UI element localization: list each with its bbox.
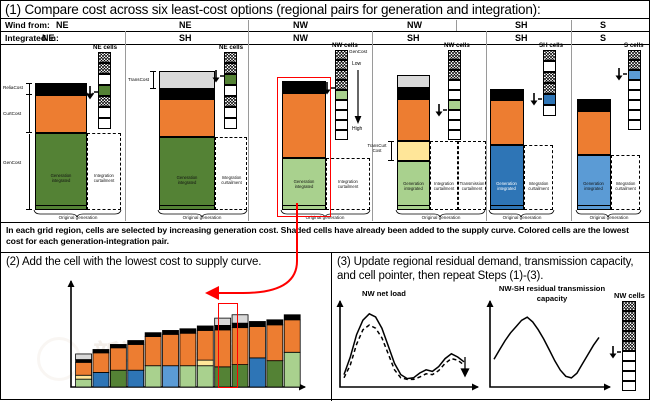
nw-net-load-title: NW net load	[362, 289, 406, 298]
integration-curtailment-box	[524, 145, 553, 210]
curt-cost-label: CurtCost	[3, 111, 21, 116]
cell-1[interactable]	[335, 50, 348, 60]
cell-2[interactable]	[543, 61, 556, 72]
figure-title: (1) Compare cost across six least-cost o…	[5, 2, 541, 17]
wind-from-label: Wind from:	[5, 20, 50, 30]
relia-tick-top	[26, 83, 32, 84]
cell-5[interactable]	[628, 90, 641, 100]
supply-bar-7-reliacost	[180, 329, 196, 333]
cell-2[interactable]	[622, 311, 636, 321]
windrow-sep-2	[571, 20, 572, 31]
supply-bar-5-curtcost	[145, 337, 161, 366]
relia-cost-label: ReliaCost	[3, 85, 23, 90]
cell-1[interactable]	[448, 50, 461, 60]
cell-6[interactable]	[543, 105, 556, 116]
supply-bar-11-curtcost	[249, 327, 265, 358]
panel-2-integrated-in: SH	[179, 33, 192, 43]
cell-7[interactable]	[628, 110, 641, 120]
original-gen-line	[577, 205, 611, 206]
selection-flow-arrow	[151, 201, 341, 311]
cell-3[interactable]	[543, 72, 556, 83]
supply-bar-1-reliacost	[76, 360, 92, 363]
supply-bar-13-gencost	[284, 352, 300, 387]
cell-8[interactable]	[628, 120, 641, 130]
panel-nw-nw: Generation integrated Integration curtai…	[248, 45, 372, 221]
supply-bar-13-reliacost	[284, 315, 300, 320]
curt-tick-bot	[26, 132, 32, 133]
supply-bar-3-gencost	[110, 370, 126, 387]
panel-4-integrated-in: SH	[407, 33, 420, 43]
original-gen-line	[490, 205, 524, 206]
original-gen-line	[397, 205, 430, 206]
integration-curtailment-label: Integration curtailment	[89, 173, 119, 183]
generation-integrated-label: Generation integrated	[579, 181, 608, 191]
supply-bar-6-curtcost	[163, 334, 179, 365]
integration-curtailment-label: Integration curtailment	[525, 181, 552, 191]
supply-bar-8-reliacost	[197, 326, 213, 330]
supply-bar-1-transcost	[76, 354, 92, 360]
cell-1[interactable]	[622, 301, 636, 311]
supply-bar-7-curtcost	[180, 333, 196, 365]
bar-segment-gencost	[35, 133, 87, 210]
trans-cost-label: TransCost	[128, 77, 149, 82]
supply-bar-12-gencost	[267, 361, 283, 387]
transcurt-tick-top	[388, 141, 394, 142]
windrow-sep-0	[248, 20, 249, 31]
supply-bar-8-transcurtcost	[197, 360, 213, 366]
panel-2-pointer-arrow-icon	[211, 69, 225, 85]
supply-curve-new-bar-highlight	[218, 303, 238, 388]
cell-4[interactable]	[224, 85, 237, 96]
panel-6-wind-from: S	[600, 20, 606, 30]
original-generation-label: Original generation	[31, 215, 125, 220]
cell-7[interactable]	[98, 118, 111, 129]
supply-bar-6-gencost	[163, 366, 179, 387]
panel-1-cells-title: NE cells	[93, 44, 117, 51]
cell-9[interactable]	[448, 130, 461, 140]
row1-divider	[1, 31, 650, 32]
cell-4[interactable]	[98, 85, 111, 96]
step3-cells-title: NW cells	[614, 291, 645, 300]
cell-3[interactable]	[622, 321, 636, 331]
gen-tick-bot	[26, 209, 32, 210]
bar-segment-curtcost	[397, 99, 430, 141]
cell-9[interactable]	[622, 381, 636, 391]
panel-3-pointer-arrow-icon	[322, 81, 336, 97]
cell-8[interactable]	[448, 120, 461, 130]
cell-5[interactable]	[622, 341, 636, 351]
supply-bar-1-transcurtcost	[76, 375, 92, 379]
gencost-gradient-arrow-icon	[353, 70, 365, 126]
generation-integrated-label: Generation integrated	[492, 181, 521, 191]
supply-bar-2-gencost	[93, 372, 109, 387]
supply-bar-7-gencost	[180, 366, 196, 387]
step3-section: (3) Update regional residual demand, tra…	[332, 253, 650, 401]
cell-6[interactable]	[448, 100, 461, 110]
supply-bar-4-gencost	[128, 370, 144, 387]
cell-7[interactable]	[448, 110, 461, 120]
panel-3-cells-title: NW cells	[332, 42, 358, 49]
cell-6[interactable]	[224, 107, 237, 118]
supply-bar-13-curtcost	[284, 320, 300, 352]
panel-6-cells-column[interactable]	[628, 50, 641, 130]
cell-8[interactable]	[335, 120, 348, 130]
original-generation-label: Original generation	[488, 215, 556, 220]
supply-bar-2-reliacost	[93, 349, 109, 352]
integration-curtailment-label: Integration curtailment	[612, 181, 639, 191]
cell-6[interactable]	[622, 351, 636, 361]
panel-1-pointer-arrow-icon	[85, 85, 99, 101]
panel-3-cells-column[interactable]	[335, 50, 348, 140]
bar-segment-curtcost	[577, 111, 611, 155]
cell-3[interactable]	[224, 74, 237, 85]
bar-segment-gencost	[159, 137, 215, 210]
cell-5[interactable]	[448, 90, 461, 100]
cell-8[interactable]	[622, 371, 636, 381]
integration-curtailment-box	[430, 141, 458, 210]
bar-segment-gencost	[490, 145, 524, 210]
cell-5[interactable]	[543, 94, 556, 105]
panel-6-integrated-in: S	[600, 33, 606, 43]
cell-3[interactable]	[98, 74, 111, 85]
generation-integrated-label: Generation integrated	[41, 173, 81, 183]
integration-curtailment-label: Integration curtailment	[330, 179, 366, 189]
cell-2[interactable]	[98, 63, 111, 74]
cell-2[interactable]	[335, 60, 348, 70]
transcurt-cost-label: TransCurt Cost	[364, 143, 390, 153]
title-divider	[1, 18, 650, 19]
supply-bar-12-reliacost	[267, 320, 283, 325]
integration-curtailment-box	[215, 137, 247, 210]
panel-5-pointer-arrow-icon	[529, 92, 543, 108]
cell-2[interactable]	[448, 60, 461, 70]
cell-7[interactable]	[335, 110, 348, 120]
panel-5-cells-column[interactable]	[543, 50, 556, 116]
selected-option-highlight	[277, 77, 331, 217]
transcurt-tick-bot	[388, 160, 394, 161]
panel-3-integrated-in: NW	[293, 33, 308, 43]
supply-bar-6-reliacost	[163, 330, 179, 334]
bar-segment-reliacost	[490, 89, 524, 100]
cell-3[interactable]	[628, 70, 641, 80]
supply-bar-2-curtcost	[93, 353, 109, 373]
bar-segment-transcurtcost	[397, 141, 430, 161]
cell-2[interactable]	[224, 63, 237, 74]
cell-5[interactable]	[335, 90, 348, 100]
cell-4[interactable]	[335, 80, 348, 90]
gencost-low-label: Low	[352, 61, 361, 67]
curt-tick	[29, 95, 30, 133]
supply-bar-8-curtcost	[197, 330, 213, 360]
panel-4-pointer-arrow-icon	[434, 103, 448, 119]
bar-segment-curtcost	[159, 99, 215, 137]
integration-curtailment-label: Integration curtailment	[217, 175, 246, 185]
supply-bar-1-gencost	[76, 379, 92, 387]
panel-3-wind-from: NW	[293, 20, 308, 30]
nw-net-load-chart	[334, 299, 482, 399]
step3-cells-column[interactable]	[622, 301, 636, 391]
panel-1-cells-column[interactable]	[98, 52, 111, 129]
bar-segment-transcost	[159, 71, 215, 89]
cell-6[interactable]	[628, 100, 641, 110]
step3-heading: (3) Update regional residual demand, tra…	[337, 256, 645, 283]
trans-tick-bot	[150, 88, 156, 89]
panel-4-cells-column[interactable]	[448, 50, 461, 140]
panel-2-cells-column[interactable]	[224, 52, 237, 129]
original-gen-line	[35, 205, 87, 206]
panel-nw-sh: TransCurt Cost Generation integrated Int…	[372, 45, 486, 221]
generation-integrated-label: Generation integrated	[167, 175, 207, 185]
cell-5[interactable]	[98, 96, 111, 107]
gencost-legend-title: GenCost	[349, 49, 367, 54]
bar-segment-reliacost	[35, 83, 87, 95]
gencost-high-label: High	[352, 126, 362, 132]
supply-bar-3-reliacost	[110, 344, 126, 347]
cell-1[interactable]	[628, 50, 641, 60]
panel-4-wind-from: NW	[407, 20, 422, 30]
cell-3[interactable]	[448, 70, 461, 80]
cell-4[interactable]	[628, 80, 641, 90]
cell-1[interactable]	[224, 52, 237, 63]
bar-segment-reliacost	[577, 99, 611, 111]
supply-bar-8-gencost	[197, 366, 213, 387]
cell-4[interactable]	[448, 80, 461, 90]
transcurt-tick	[391, 141, 392, 161]
panel-1-wind-from: NE	[56, 20, 69, 30]
panel-6-pointer-arrow-icon	[614, 67, 628, 83]
panel-ne-ne: ReliaCost CurtCost GenCost Generation in…	[1, 45, 125, 221]
transmission-curtailment-box	[458, 141, 486, 210]
cell-4[interactable]	[622, 331, 636, 341]
cell-1[interactable]	[543, 50, 556, 61]
figure-root: (1) Compare cost across six least-cost o…	[0, 0, 650, 400]
supply-bar-3-curtcost	[110, 348, 126, 370]
cell-4[interactable]	[543, 83, 556, 94]
nw-sh-capacity-chart	[484, 299, 614, 399]
cell-2[interactable]	[628, 60, 641, 70]
supply-bar-5-gencost	[145, 366, 161, 387]
supply-bar-5-reliacost	[145, 333, 161, 337]
panel-2-cells-title: NE cells	[219, 44, 243, 51]
trans-tick	[153, 71, 154, 89]
cell-7[interactable]	[224, 118, 237, 129]
panel-5-cells-title: SH cells	[539, 42, 563, 49]
cell-6[interactable]	[335, 100, 348, 110]
gen-cost-label: GenCost	[3, 160, 21, 165]
original-generation-label: Original generation	[575, 215, 643, 220]
transmission-curtailment-label: Transmission curtailment	[459, 181, 485, 191]
bar-segment-reliacost	[159, 89, 215, 99]
panel-sh-sh: Generation integrated Integration curtai…	[486, 45, 571, 221]
gen-tick	[29, 134, 30, 210]
supply-bar-11-reliacost	[249, 321, 265, 326]
bar-segment-curtcost	[490, 100, 524, 145]
panel-6-cells-title: S cells	[624, 42, 644, 49]
generation-integrated-label: Generation integrated	[399, 181, 428, 191]
windrow-sep-1	[456, 20, 457, 31]
supply-bar-1-curtcost	[76, 362, 92, 375]
bar-segment-transcost	[397, 75, 430, 88]
panel-2-wind-from: NE	[179, 20, 192, 30]
panel-5-integrated-in: SH	[515, 33, 528, 43]
integration-curtailment-box	[87, 133, 121, 210]
step3-pointer-arrow-icon	[608, 345, 622, 361]
panel-ne-sh: TransCost Generation integrated Integrat…	[125, 45, 248, 221]
cell-5[interactable]	[224, 96, 237, 107]
supply-bar-4-reliacost	[128, 341, 144, 345]
supply-bar-12-curtcost	[267, 325, 283, 361]
cell-7[interactable]	[622, 361, 636, 371]
cell-1[interactable]	[98, 52, 111, 63]
panel-5-wind-from: SH	[515, 20, 528, 30]
trans-tick-top	[150, 71, 156, 72]
cell-3[interactable]	[335, 70, 348, 80]
supply-bar-4-curtcost	[128, 344, 144, 370]
integration-curtailment-label: Integration curtailment	[431, 181, 457, 191]
panel-s-s: Generation integrated Integration curtai…	[571, 45, 650, 221]
cell-6[interactable]	[98, 107, 111, 118]
panel-4-cells-title: NW cells	[444, 42, 470, 49]
panel-1-integrated-in: NE	[42, 33, 55, 43]
bar-segment-reliacost	[397, 88, 430, 99]
bar-segment-curtcost	[35, 95, 87, 133]
cell-9[interactable]	[335, 130, 348, 140]
supply-bar-11-gencost	[249, 358, 265, 387]
original-generation-label: Original generation	[395, 215, 487, 220]
